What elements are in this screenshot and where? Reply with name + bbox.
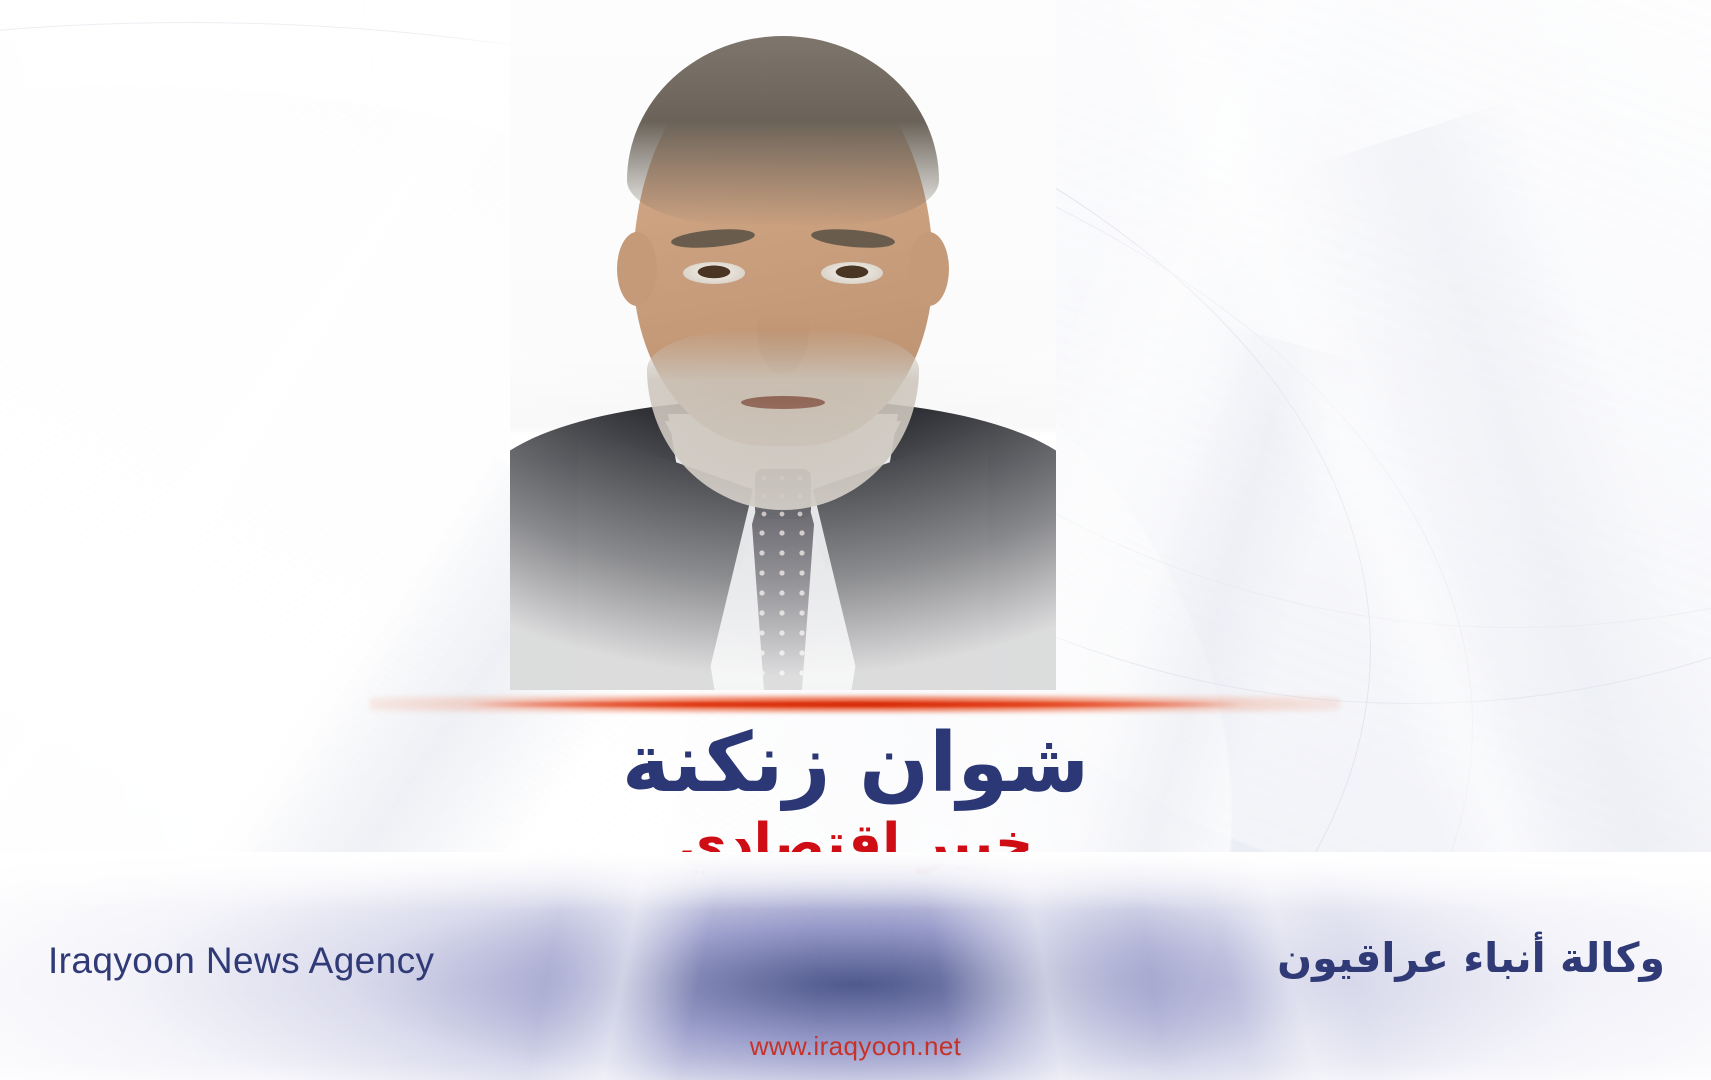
brand-name-english: Iraqyoon News Agency: [48, 940, 434, 982]
portrait-inner: [510, 0, 1056, 690]
portrait-eye-right: [821, 262, 883, 284]
website-url: www.iraqyoon.net: [0, 1031, 1711, 1062]
orange-divider-line: [470, 702, 1240, 707]
person-name-block: شوان زنكنة خبير اقتصادي: [0, 720, 1711, 873]
portrait-mouth: [741, 396, 825, 409]
footer-bar: Iraqyoon News Agency وكالة أنباء عراقيون…: [0, 852, 1711, 1080]
news-agency-person-card: شوان زنكنة خبير اقتصادي Iraqyoon News Ag…: [0, 0, 1711, 1080]
brand-name-arabic: وكالة أنباء عراقيون: [1277, 934, 1665, 982]
portrait-eye-left: [683, 262, 745, 284]
footer-top-fade: [0, 852, 1711, 910]
portrait-photo: [510, 0, 1056, 690]
portrait-ear-left: [617, 232, 657, 306]
person-name: شوان زنكنة: [0, 720, 1711, 809]
portrait-ear-right: [909, 232, 949, 306]
